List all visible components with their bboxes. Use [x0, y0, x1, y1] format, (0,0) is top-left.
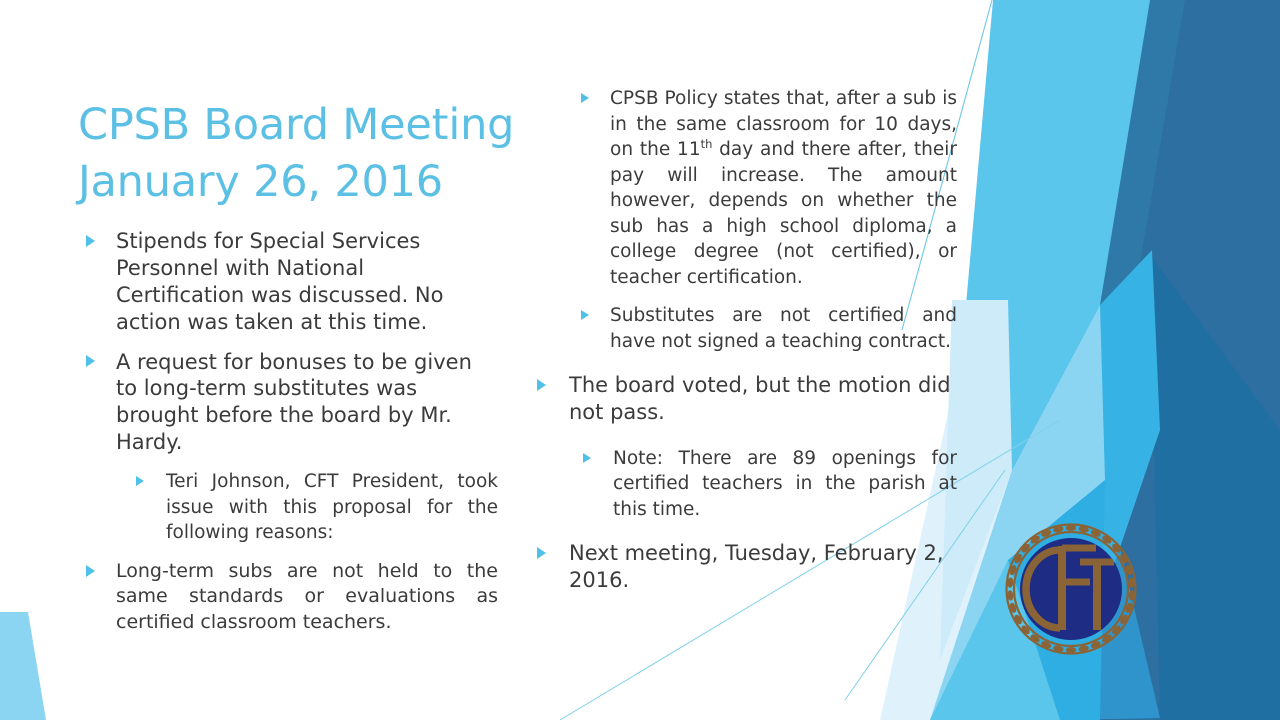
bullet-text: Substitutes are not certified and have n…	[610, 303, 957, 354]
triangle-bullet-icon	[86, 565, 95, 577]
deco-shape-bottom-left-wedge	[0, 612, 46, 720]
right-content-column: CPSB Policy states that, after a sub is …	[525, 86, 957, 594]
bullet-item: The board voted, but the motion did not …	[525, 372, 957, 426]
triangle-bullet-icon	[86, 235, 95, 247]
triangle-bullet-icon	[136, 476, 144, 486]
bullet-text: Note: There are 89 openings for certifie…	[613, 446, 957, 523]
triangle-bullet-icon	[581, 310, 589, 320]
bullet-text: Stipends for Special Services Personnel …	[116, 228, 498, 336]
triangle-bullet-icon	[537, 547, 546, 559]
sub-bullet-item: Note: There are 89 openings for certifie…	[525, 446, 957, 523]
bullet-text: CPSB Policy states that, after a sub is …	[610, 86, 957, 290]
triangle-bullet-icon	[86, 355, 95, 367]
sub-bullet-item: Teri Johnson, CFT President, took issue …	[78, 469, 498, 546]
bullet-item: Stipends for Special Services Personnel …	[78, 228, 498, 336]
slide-title: CPSB Board Meeting January 26, 2016	[78, 97, 548, 211]
title-line-1: CPSB Board Meeting	[78, 100, 514, 150]
bullet-text-part-2: day and there after, their pay will incr…	[610, 139, 957, 288]
bullet-item: Next meeting, Tuesday, February 2, 2016.	[525, 540, 957, 594]
bullet-item: Substitutes are not certified and have n…	[525, 303, 957, 354]
presentation-slide: CPSB Board Meeting January 26, 2016 Stip…	[0, 0, 1280, 720]
cft-logo	[1000, 518, 1142, 660]
left-content-column: Stipends for Special Services Personnel …	[78, 228, 498, 635]
bullet-item: CPSB Policy states that, after a sub is …	[525, 86, 957, 290]
triangle-bullet-icon	[537, 379, 546, 391]
bullet-text: Teri Johnson, CFT President, took issue …	[166, 469, 498, 546]
bullet-item: Long-term subs are not held to the same …	[78, 559, 498, 636]
triangle-bullet-icon	[581, 93, 589, 103]
bullet-text: The board voted, but the motion did not …	[569, 372, 957, 426]
bullet-text: Long-term subs are not held to the same …	[116, 559, 498, 636]
bullet-text: Next meeting, Tuesday, February 2, 2016.	[569, 540, 957, 594]
triangle-bullet-icon	[583, 453, 591, 463]
bullet-item: A request for bonuses to be given to lon…	[78, 349, 498, 457]
bullet-text: A request for bonuses to be given to lon…	[116, 349, 498, 457]
deco-shape-deep-right	[1120, 0, 1280, 720]
title-line-2: January 26, 2016	[78, 157, 443, 207]
deco-shape-sky	[962, 0, 1150, 470]
logo-disc	[1020, 538, 1122, 640]
ordinal-suffix: th	[701, 137, 713, 151]
deco-shape-mid-blue	[1150, 255, 1280, 720]
